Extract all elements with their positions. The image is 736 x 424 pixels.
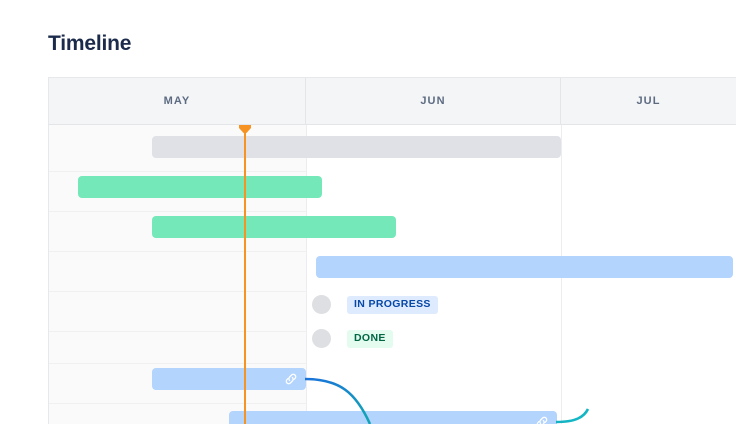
row-separator	[49, 291, 306, 292]
row-separator	[49, 171, 306, 172]
month-label: MAY	[164, 95, 191, 107]
month-label: JUN	[420, 95, 445, 107]
row-separator	[49, 363, 306, 364]
timeline-bar-in-progress-2[interactable]	[152, 368, 306, 390]
timeline-month-header: MAY JUN JUL	[48, 77, 736, 125]
status-badge[interactable]: DONE	[347, 330, 393, 348]
row-separator	[49, 403, 306, 404]
timeline-bar-in-progress-3[interactable]	[229, 411, 557, 424]
timeline-grid-body[interactable]: IN PROGRESS DONE	[48, 125, 736, 424]
row-separator	[49, 211, 306, 212]
row-separator	[49, 331, 306, 332]
column-divider-may-jun	[306, 125, 307, 424]
status-dot-icon	[312, 329, 331, 348]
status-badge[interactable]: IN PROGRESS	[347, 296, 438, 314]
today-marker[interactable]	[244, 125, 246, 424]
month-label: JUL	[636, 95, 660, 107]
link-icon[interactable]	[283, 371, 299, 387]
month-column-header-may[interactable]: MAY	[48, 78, 306, 124]
link-icon[interactable]	[534, 414, 550, 424]
row-separator	[49, 251, 306, 252]
status-row-in-progress[interactable]: IN PROGRESS	[312, 295, 438, 314]
timeline-chart[interactable]: MAY JUN JUL	[48, 77, 736, 424]
timeline-bar-backlog[interactable]	[152, 136, 561, 158]
timeline-page: Timeline MAY JUN JUL	[0, 0, 736, 424]
timeline-bar-done-1[interactable]	[78, 176, 322, 198]
status-row-done[interactable]: DONE	[312, 329, 393, 348]
month-column-header-jun[interactable]: JUN	[306, 78, 561, 124]
status-dot-icon	[312, 295, 331, 314]
month-column-header-jul[interactable]: JUL	[561, 78, 736, 124]
timeline-bar-in-progress-1[interactable]	[316, 256, 733, 278]
page-title: Timeline	[48, 30, 131, 58]
timeline-bar-done-2[interactable]	[152, 216, 396, 238]
